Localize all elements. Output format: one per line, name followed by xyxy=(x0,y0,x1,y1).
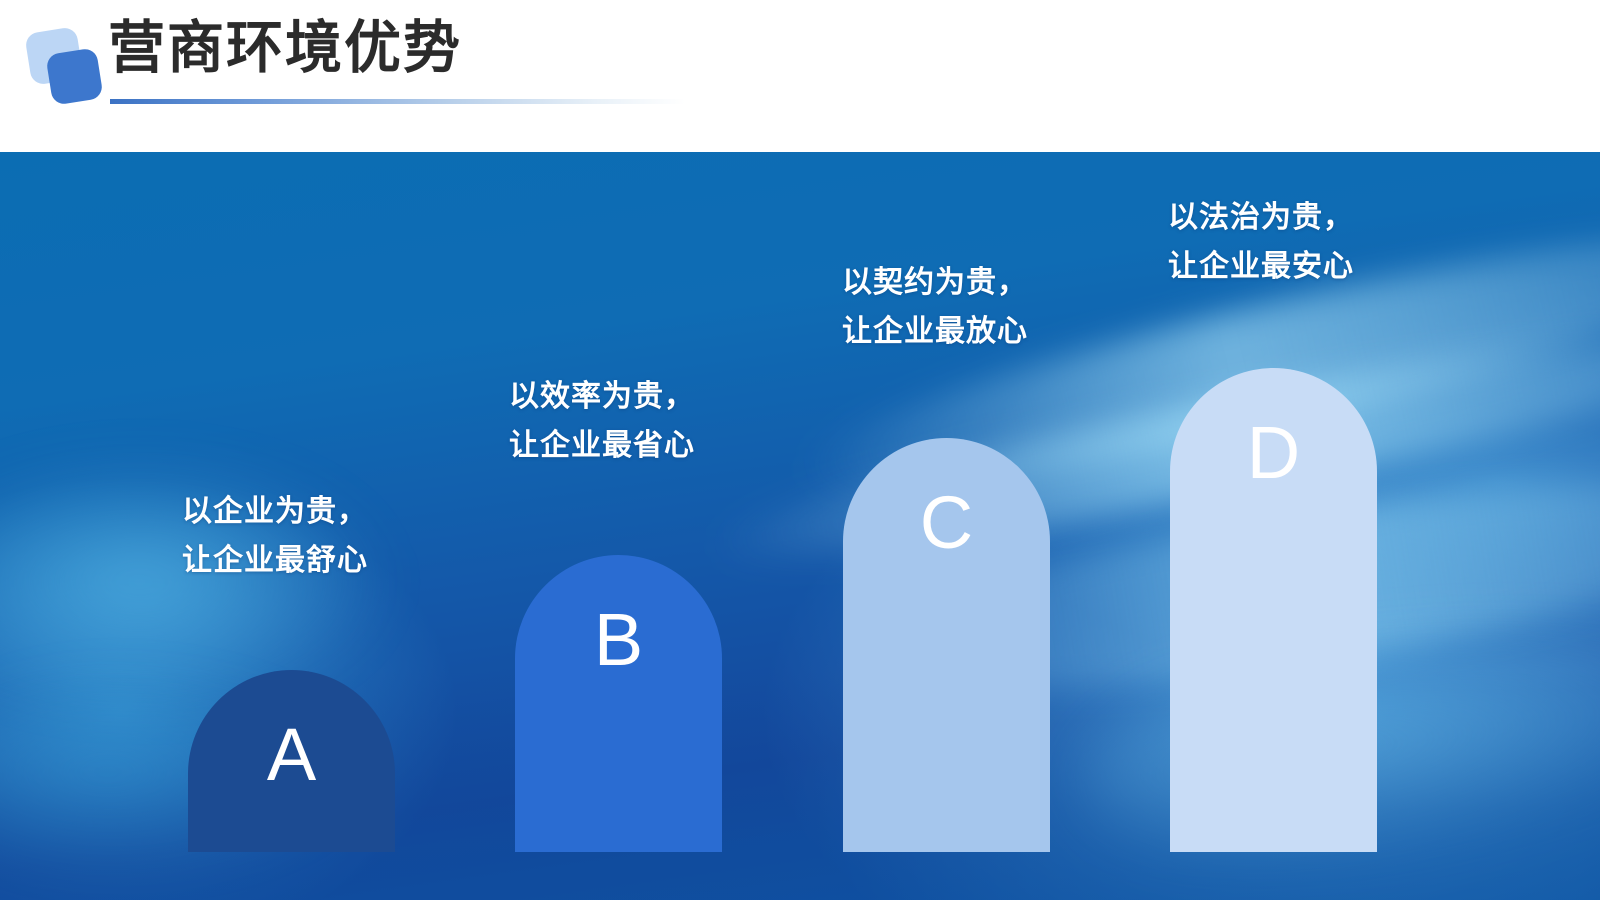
chart-bar-c[interactable]: C xyxy=(843,438,1050,852)
chart-bar-b-caption-line2: 让企业最省心 xyxy=(509,422,695,471)
chart-bar-b-caption: 以效率为贵， 让企业最省心 xyxy=(509,373,695,470)
chart-bar-d-letter: D xyxy=(1170,416,1377,490)
chart-bar-a-caption-line2: 让企业最舒心 xyxy=(182,537,368,586)
slide-header: 营商环境优势 xyxy=(0,0,1600,152)
chart-bar-b-letter: B xyxy=(515,603,722,677)
chart-bar-b-caption-line1: 以效率为贵， xyxy=(509,373,695,422)
chart-bar-a-caption: 以企业为贵， 让企业最舒心 xyxy=(182,488,368,585)
slide-root: 营商环境优势 A B C D 以企业为贵， 让企业最舒心 xyxy=(0,0,1600,900)
page-title: 营商环境优势 xyxy=(108,16,462,82)
chart-bar-a-letter: A xyxy=(188,718,395,792)
logo-square-front-icon xyxy=(45,47,103,105)
chart-bar-c-caption-line1: 以契约为贵， xyxy=(842,259,1028,308)
chart-bar-d[interactable]: D xyxy=(1170,368,1377,852)
title-divider xyxy=(110,99,685,104)
chart-bar-d-caption-line1: 以法治为贵， xyxy=(1168,194,1354,243)
chart-bar-a-caption-line1: 以企业为贵， xyxy=(182,488,368,537)
chart-bar-d-caption-line2: 让企业最安心 xyxy=(1168,243,1354,292)
chart-bar-c-letter: C xyxy=(843,486,1050,560)
chart-stage: A B C D 以企业为贵， 让企业最舒心 以效率为贵， 让企业最省心 以契约为… xyxy=(0,152,1600,900)
logo-icon xyxy=(22,24,108,106)
chart-bar-c-caption-line2: 让企业最放心 xyxy=(842,308,1028,357)
chart-bar-a[interactable]: A xyxy=(188,670,395,852)
chart-bar-c-caption: 以契约为贵， 让企业最放心 xyxy=(842,259,1028,356)
chart-bar-d-caption: 以法治为贵， 让企业最安心 xyxy=(1168,194,1354,291)
background-ribbon-2 xyxy=(701,302,1600,593)
chart-bar-b[interactable]: B xyxy=(515,555,722,852)
